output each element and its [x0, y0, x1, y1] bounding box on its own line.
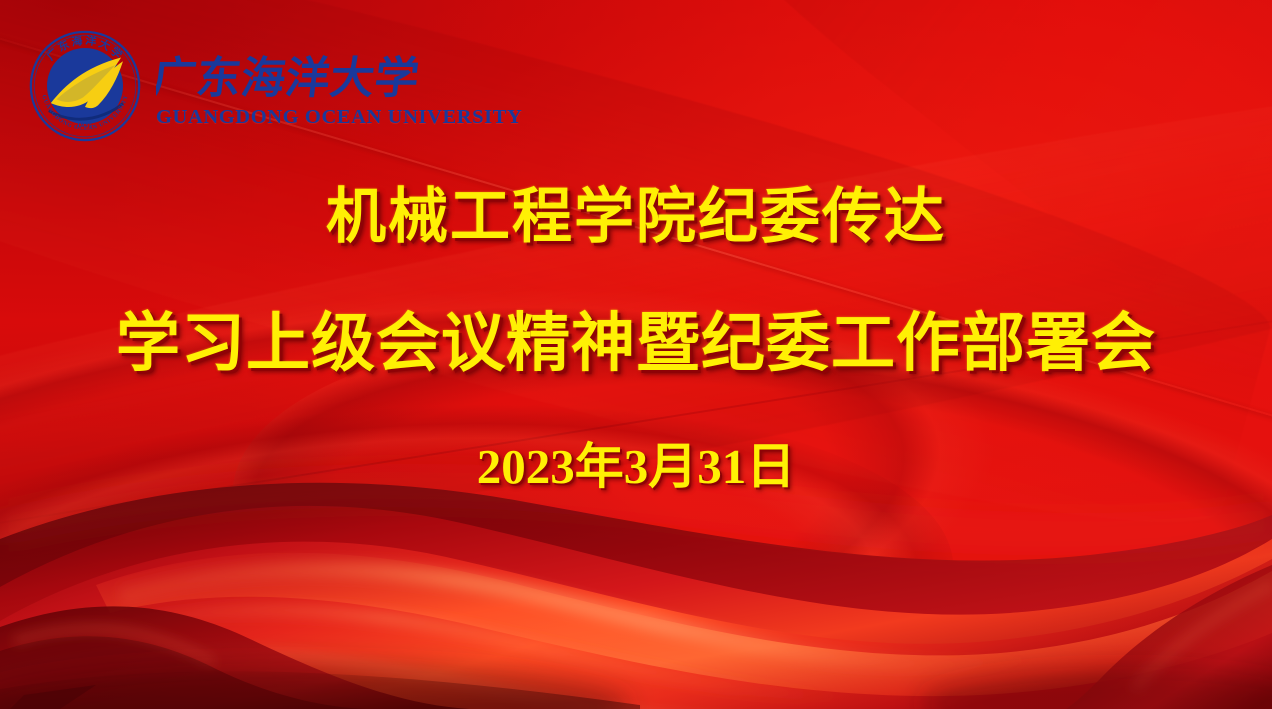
wordmark-chinese: 广东海洋大学: [156, 48, 522, 106]
title-line-2: 学习上级会议精神暨纪委工作部署会: [0, 310, 1272, 378]
university-emblem-icon: 广东海洋大学 GUANGDONG OCEAN UNIVERSITY 1935: [28, 29, 142, 143]
svg-text:1935: 1935: [77, 123, 93, 129]
university-logo: 广东海洋大学 GUANGDONG OCEAN UNIVERSITY 1935 广…: [28, 26, 448, 146]
university-wordmark: 广东海洋大学 GUANGDONG OCEAN UNIVERSITY: [156, 44, 522, 128]
title-slide: 广东海洋大学 GUANGDONG OCEAN UNIVERSITY 1935 广…: [0, 0, 1272, 709]
svg-text:广东海洋大学: 广东海洋大学: [156, 54, 422, 103]
wordmark-english: GUANGDONG OCEAN UNIVERSITY: [156, 107, 522, 128]
meeting-date: 2023年3月31日: [0, 427, 1272, 498]
title-line-1: 机械工程学院纪委传达: [0, 186, 1272, 250]
headline-block: 机械工程学院纪委传达 学习上级会议精神暨纪委工作部署会 2023年3月31日: [0, 186, 1272, 498]
